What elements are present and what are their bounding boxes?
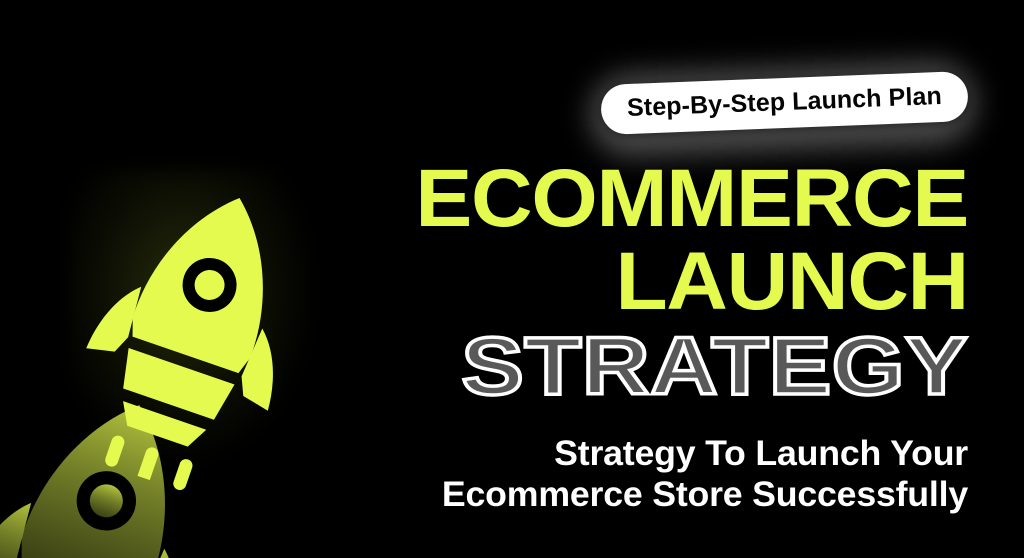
poster-canvas: Step-By-Step Launch Plan ECOMMERCE LAUNC… bbox=[0, 0, 1024, 558]
badge-container: Step-By-Step Launch Plan bbox=[348, 78, 968, 128]
rocket-icon-faded bbox=[0, 347, 297, 558]
headline-line-ecommerce: ECOMMERCE bbox=[323, 160, 968, 239]
content-column: Step-By-Step Launch Plan ECOMMERCE LAUNC… bbox=[348, 0, 968, 558]
headline-line-strategy-outlined: STRATEGY bbox=[261, 328, 968, 407]
headline-line-launch: LAUNCH bbox=[323, 243, 968, 322]
subtitle-line-2: Ecommerce Store Successfully bbox=[336, 475, 968, 516]
subtitle-line-1: Strategy To Launch Your bbox=[336, 434, 968, 475]
rocket-glow bbox=[70, 170, 320, 470]
subtitle-block: Strategy To Launch Your Ecommerce Store … bbox=[336, 434, 968, 515]
rocket-artwork bbox=[0, 0, 360, 558]
